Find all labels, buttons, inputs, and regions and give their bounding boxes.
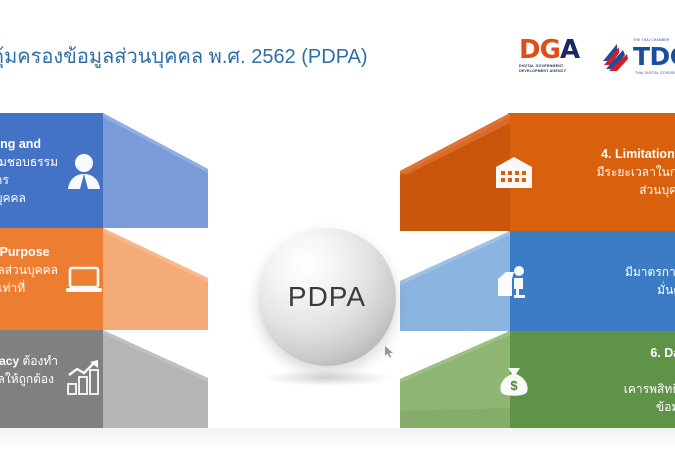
panel-thai-line2: ส่วนบุคคลที่แน่นอน bbox=[544, 181, 675, 199]
tdg-mark-icon bbox=[601, 41, 631, 73]
panel-data-accuracy[interactable]: ta Accuracy ต้องทำ ส่วนบุคคลให้ถูกต้อง น… bbox=[0, 330, 208, 428]
panel-limitation-of-storage[interactable]: 4. Limitation of Storage มีระยะเวลาในการ… bbox=[400, 113, 675, 231]
user-icon bbox=[62, 149, 106, 193]
panel-content: cessity and Purpose ation ใช้ข้อมูลส่วนบ… bbox=[0, 228, 110, 330]
panel-content: wful processing and parency มีความชอบธรร… bbox=[0, 113, 110, 228]
page-title: ารของ พรบ. คุ้มครองข้อมูลส่วนบุคคล พ.ศ. … bbox=[0, 44, 530, 70]
panel-thai-line3: นปัจจุบัน bbox=[0, 388, 58, 406]
panel-content: 4. Limitation of Storage มีระยะเวลาในการ… bbox=[488, 113, 675, 231]
svg-text:$: $ bbox=[510, 378, 518, 393]
tdg-logo: TDG THE THAI CHAMBER THAI DIGITAL GOVERN… bbox=[601, 36, 675, 78]
panel-wedge bbox=[103, 113, 208, 228]
panel-text: cessity and Purpose ation ใช้ข้อมูลส่วนบ… bbox=[0, 243, 58, 315]
panel-lawful-processing[interactable]: wful processing and parency มีความชอบธรร… bbox=[0, 113, 208, 228]
panel-heading-2: ation ใช้ข้อมูลส่วนบุคคล bbox=[0, 261, 58, 279]
panel-thai-line3: น bbox=[0, 297, 58, 315]
panel-security[interactable]: 5. Security มีมาตรการรักษาความ มั่นคงปลอ… bbox=[400, 231, 675, 331]
panel-heading: ta Accuracy ต้องทำ bbox=[0, 352, 58, 370]
panel-thai-line2: ามโปร่งใสในการ bbox=[0, 171, 58, 189]
panel-heading: 4. Limitation of Storage bbox=[544, 145, 675, 163]
tdg-wordmark: TDG bbox=[633, 44, 675, 70]
tdg-subtitle-top: THE THAI CHAMBER bbox=[633, 38, 669, 42]
panel-thai-line2: มั่นคงปลอดภัยที่ bbox=[544, 281, 675, 299]
center-sphere: PDPA bbox=[258, 228, 396, 366]
diagram-stage: wful processing and parency มีความชอบธรร… bbox=[0, 98, 675, 450]
panel-text: wful processing and parency มีความชอบธรร… bbox=[0, 135, 58, 207]
laptop-icon bbox=[62, 257, 106, 301]
panel-heading: wful processing and bbox=[0, 135, 58, 153]
logo-group: DGA DIGITAL GOVERNMENT DEVELOPMENT AGENC… bbox=[519, 36, 675, 78]
panel-heading: cessity and Purpose bbox=[0, 243, 58, 261]
slide-header: ารของ พรบ. คุ้มครองข้อมูลส่วนบุคคล พ.ศ. … bbox=[0, 0, 675, 98]
money-bag-icon: $ bbox=[492, 358, 536, 402]
dga-letter-d: D bbox=[519, 35, 540, 65]
dga-letter-a: A bbox=[560, 35, 579, 65]
panel-content: ta Accuracy ต้องทำ ส่วนบุคคลให้ถูกต้อง น… bbox=[0, 330, 110, 428]
panel-text: ta Accuracy ต้องทำ ส่วนบุคคลให้ถูกต้อง น… bbox=[0, 352, 58, 406]
panel-heading: 6. Data Subject bbox=[544, 344, 675, 362]
panel-content: $ 6. Data Subject Rights เคารพสิทธิ์ของเ… bbox=[488, 331, 675, 428]
mouse-cursor-icon bbox=[385, 346, 396, 358]
sphere-shadow bbox=[262, 370, 392, 386]
panel-thai-line3: เหมาะสม bbox=[544, 299, 675, 317]
building-icon bbox=[492, 150, 536, 194]
panel-heading: 5. Security bbox=[544, 245, 675, 263]
panel-text: 6. Data Subject Rights เคารพสิทธิ์ของเจ้… bbox=[544, 344, 675, 416]
tdg-subtitle-bottom: THAI DIGITAL GOVERNANCE bbox=[635, 71, 675, 75]
bar-chart-icon bbox=[62, 357, 106, 401]
panel-thai-line1: มีมาตรการรักษาความ bbox=[544, 263, 675, 281]
dga-letter-g: G bbox=[540, 35, 560, 65]
panel-necessity-purpose[interactable]: cessity and Purpose ation ใช้ข้อมูลส่วนบ… bbox=[0, 228, 208, 330]
panel-thai-line1: มีระยะเวลาในการเก็บข้อมูล bbox=[544, 163, 675, 181]
panel-thai-line2: ถุประสงค์และเท่าที่ bbox=[0, 279, 58, 297]
panel-wedge bbox=[103, 228, 208, 330]
center-sphere-label: PDPA bbox=[288, 281, 366, 313]
slide-canvas: ารของ พรบ. คุ้มครองข้อมูลส่วนบุคคล พ.ศ. … bbox=[0, 0, 675, 450]
panel-text: 5. Security มีมาตรการรักษาความ มั่นคงปลอ… bbox=[544, 245, 675, 317]
panel-wedge bbox=[103, 330, 208, 428]
panel-thai-line2: ข้อมูลส่วนบุคคล bbox=[544, 398, 675, 416]
dga-subtitle-line2: DEVELOPMENT AGENCY bbox=[519, 69, 591, 74]
panel-heading-2: parency มีความชอบธรรม bbox=[0, 153, 58, 171]
panel-thai-line3: ลผลข้อมูลส่วนบุคคล bbox=[0, 189, 58, 207]
panel-text: 4. Limitation of Storage มีระยะเวลาในการ… bbox=[544, 145, 675, 199]
panel-heading-2: Rights bbox=[544, 362, 675, 380]
dga-wordmark: DGA bbox=[519, 36, 593, 64]
panel-thai-line1: เคารพสิทธิ์ของเจ้าของ bbox=[544, 380, 675, 398]
floor-reflection bbox=[0, 428, 675, 450]
panel-data-subject-rights[interactable]: $ 6. Data Subject Rights เคารพสิทธิ์ของเ… bbox=[400, 331, 675, 428]
person-at-desk-icon bbox=[492, 259, 536, 303]
panel-content: 5. Security มีมาตรการรักษาความ มั่นคงปลอ… bbox=[488, 231, 675, 331]
dga-logo: DGA DIGITAL GOVERNMENT DEVELOPMENT AGENC… bbox=[519, 36, 593, 78]
panel-thai-line2: ส่วนบุคคลให้ถูกต้อง bbox=[0, 370, 58, 388]
